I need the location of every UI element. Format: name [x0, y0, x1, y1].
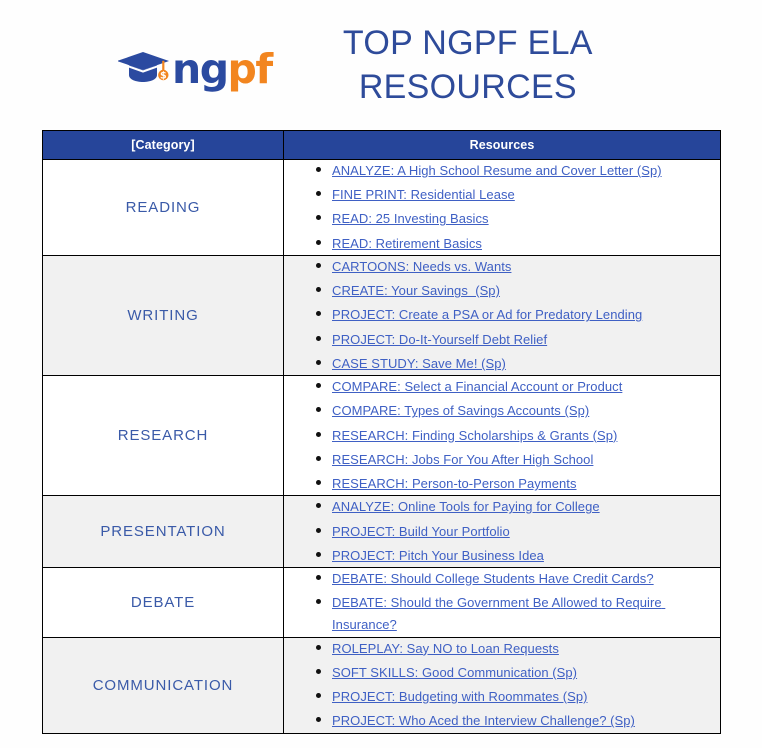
category-cell: DEBATE [43, 567, 284, 637]
resource-link[interactable]: PROJECT: Budgeting with Roommates (Sp) [332, 689, 588, 704]
list-item: CREATE: Your Savings (Sp) [332, 280, 720, 302]
resource-link[interactable]: PROJECT: Do-It-Yourself Debt Relief [332, 332, 547, 347]
category-cell: WRITING [43, 255, 284, 375]
resource-list: ROLEPLAY: Say NO to Loan RequestsSOFT SK… [284, 638, 720, 733]
resource-link[interactable]: ANALYZE: Online Tools for Paying for Col… [332, 499, 600, 514]
list-item: PROJECT: Build Your Portfolio [332, 521, 720, 543]
list-item: DEBATE: Should College Students Have Cre… [332, 568, 720, 590]
resource-link[interactable]: READ: 25 Investing Basics [332, 211, 489, 226]
resource-link[interactable]: RESEARCH: Person-to-Person Payments [332, 476, 577, 491]
list-item: PROJECT: Budgeting with Roommates (Sp) [332, 686, 720, 708]
resource-list: DEBATE: Should College Students Have Cre… [284, 568, 720, 637]
resource-link[interactable]: CARTOONS: Needs vs. Wants [332, 259, 511, 274]
list-item: READ: 25 Investing Basics [332, 208, 720, 230]
svg-text:$: $ [160, 71, 167, 82]
resource-link[interactable]: DEBATE: Should the Government Be Allowed… [332, 595, 665, 632]
resource-link[interactable]: COMPARE: Select a Financial Account or P… [332, 379, 622, 394]
resources-table: [Category] Resources READINGANALYZE: A H… [42, 130, 721, 734]
list-item: PROJECT: Who Aced the Interview Challeng… [332, 710, 720, 732]
page-title: TOP NGPF ELA RESOURCES [272, 22, 762, 109]
table-row: WRITINGCARTOONS: Needs vs. WantsCREATE: … [43, 255, 721, 375]
resource-link[interactable]: READ: Retirement Basics [332, 236, 482, 251]
resource-link[interactable]: FINE PRINT: Residential Lease [332, 187, 515, 202]
table-header: [Category] Resources [43, 131, 721, 160]
list-item: CASE STUDY: Save Me! (Sp) [332, 353, 720, 375]
resources-cell: ROLEPLAY: Say NO to Loan RequestsSOFT SK… [284, 637, 721, 733]
category-cell: READING [43, 160, 284, 256]
list-item: RESEARCH: Finding Scholarships & Grants … [332, 425, 720, 447]
list-item: CARTOONS: Needs vs. Wants [332, 256, 720, 278]
list-item: ROLEPLAY: Say NO to Loan Requests [332, 638, 720, 660]
graduation-cap-dollar-icon: $ [118, 48, 174, 88]
page-header: $ ngpf TOP NGPF ELA RESOURCES [0, 0, 762, 130]
wordmark-ng: ng [172, 45, 228, 93]
table-row: READINGANALYZE: A High School Resume and… [43, 160, 721, 256]
category-cell: COMMUNICATION [43, 637, 284, 733]
resources-cell: ANALYZE: Online Tools for Paying for Col… [284, 496, 721, 568]
table-row: COMMUNICATIONROLEPLAY: Say NO to Loan Re… [43, 637, 721, 733]
resource-link[interactable]: CASE STUDY: Save Me! (Sp) [332, 356, 506, 371]
resources-table-container: [Category] Resources READINGANALYZE: A H… [42, 130, 720, 734]
resources-cell: CARTOONS: Needs vs. WantsCREATE: Your Sa… [284, 255, 721, 375]
list-item: RESEARCH: Person-to-Person Payments [332, 473, 720, 495]
resources-cell: ANALYZE: A High School Resume and Cover … [284, 160, 721, 256]
list-item: READ: Retirement Basics [332, 233, 720, 255]
resource-link[interactable]: COMPARE: Types of Savings Accounts (Sp) [332, 403, 589, 418]
resource-link[interactable]: ROLEPLAY: Say NO to Loan Requests [332, 641, 559, 656]
resource-list: COMPARE: Select a Financial Account or P… [284, 376, 720, 495]
list-item: DEBATE: Should the Government Be Allowed… [332, 592, 720, 636]
list-item: RESEARCH: Jobs For You After High School [332, 449, 720, 471]
resource-list: CARTOONS: Needs vs. WantsCREATE: Your Sa… [284, 256, 720, 375]
category-cell: RESEARCH [43, 376, 284, 496]
resource-link[interactable]: SOFT SKILLS: Good Communication (Sp) [332, 665, 577, 680]
column-header-category: [Category] [43, 131, 284, 160]
table-body: READINGANALYZE: A High School Resume and… [43, 160, 721, 734]
ngpf-logo: $ ngpf [118, 48, 272, 89]
list-item: PROJECT: Create a PSA or Ad for Predator… [332, 304, 720, 326]
list-item: ANALYZE: Online Tools for Paying for Col… [332, 496, 720, 518]
resource-list: ANALYZE: A High School Resume and Cover … [284, 160, 720, 255]
list-item: PROJECT: Pitch Your Business Idea [332, 545, 720, 567]
resource-link[interactable]: PROJECT: Create a PSA or Ad for Predator… [332, 307, 642, 322]
resource-list: ANALYZE: Online Tools for Paying for Col… [284, 496, 720, 567]
resource-link[interactable]: RESEARCH: Jobs For You After High School [332, 452, 593, 467]
list-item: FINE PRINT: Residential Lease [332, 184, 720, 206]
wordmark-pf: pf [228, 45, 272, 93]
table-header-row: [Category] Resources [43, 131, 721, 160]
list-item: ANALYZE: A High School Resume and Cover … [332, 160, 720, 182]
list-item: COMPARE: Select a Financial Account or P… [332, 376, 720, 398]
list-item: SOFT SKILLS: Good Communication (Sp) [332, 662, 720, 684]
table-row: DEBATEDEBATE: Should College Students Ha… [43, 567, 721, 637]
list-item: PROJECT: Do-It-Yourself Debt Relief [332, 329, 720, 351]
resource-link[interactable]: PROJECT: Build Your Portfolio [332, 524, 510, 539]
category-cell: PRESENTATION [43, 496, 284, 568]
resource-link[interactable]: ANALYZE: A High School Resume and Cover … [332, 163, 662, 178]
column-header-resources: Resources [284, 131, 721, 160]
resources-cell: DEBATE: Should College Students Have Cre… [284, 567, 721, 637]
resource-link[interactable]: RESEARCH: Finding Scholarships & Grants … [332, 428, 617, 443]
resource-link[interactable]: DEBATE: Should College Students Have Cre… [332, 571, 654, 586]
resources-cell: COMPARE: Select a Financial Account or P… [284, 376, 721, 496]
list-item: COMPARE: Types of Savings Accounts (Sp) [332, 400, 720, 422]
resource-link[interactable]: PROJECT: Pitch Your Business Idea [332, 548, 544, 563]
table-row: RESEARCHCOMPARE: Select a Financial Acco… [43, 376, 721, 496]
ngpf-wordmark: ngpf [172, 49, 272, 90]
resource-link[interactable]: PROJECT: Who Aced the Interview Challeng… [332, 713, 635, 728]
resource-link[interactable]: CREATE: Your Savings (Sp) [332, 283, 500, 298]
table-row: PRESENTATIONANALYZE: Online Tools for Pa… [43, 496, 721, 568]
